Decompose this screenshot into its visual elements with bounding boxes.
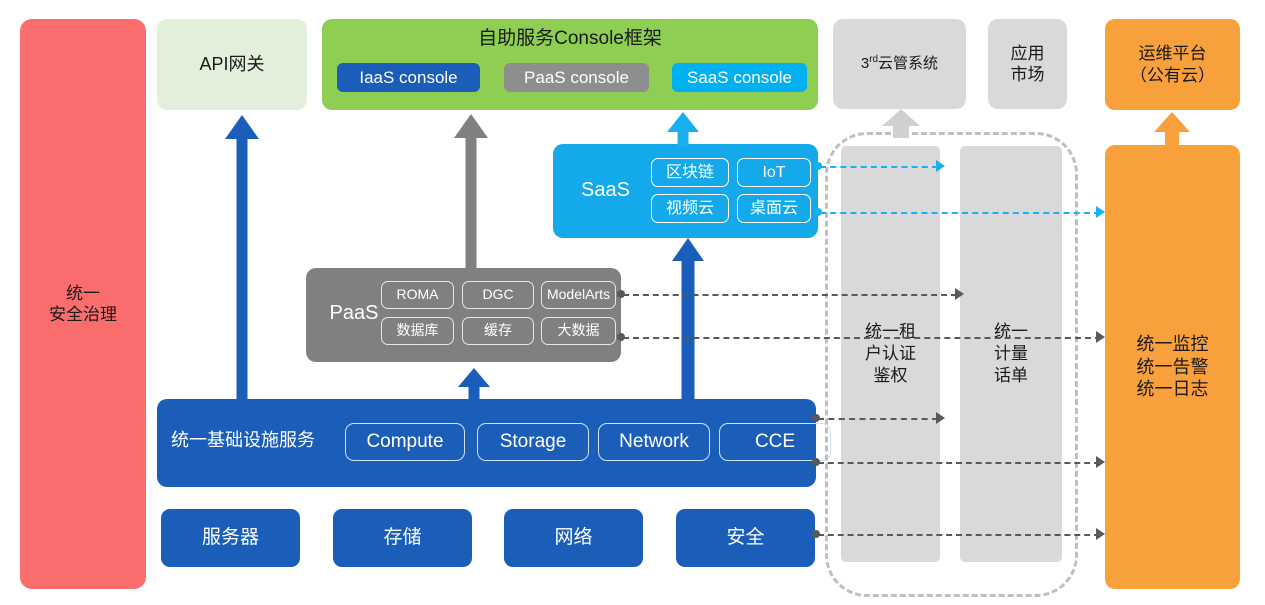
infrastructure-label: 统一基础设施服务 <box>171 429 315 452</box>
arrow-ops-main-to-ops-platform <box>1154 112 1190 146</box>
unified-security-governance-panel: 统一 安全治理 <box>20 19 146 589</box>
ops-platform-public-cloud-box: 运维平台 （公有云） <box>1105 19 1240 110</box>
connector-paas-to-ops <box>623 337 1101 339</box>
shared-column-tenant-auth: 统一租 户认证 鉴权 <box>841 146 940 562</box>
saas-chip-iot[interactable]: IoT <box>737 158 811 187</box>
connector-paas-to-metering <box>623 294 957 296</box>
app-market-box: 应用 市场 <box>988 19 1067 109</box>
resource-box-security: 安全 <box>676 509 815 567</box>
third-party-label: 3rd云管系统 <box>861 54 938 74</box>
saas-layer-label: SaaS <box>563 178 648 203</box>
paas-chip-database[interactable]: 数据库 <box>381 317 454 345</box>
connector-arrowhead-infra-auth <box>936 412 945 424</box>
arrow-shared-to-third-party <box>882 109 920 137</box>
resource-box-storage: 存储 <box>333 509 472 567</box>
saas-layer-box: SaaS 区块链 IoT 视频云 桌面云 <box>553 144 818 238</box>
infra-chip-network[interactable]: Network <box>598 423 710 461</box>
connector-arrowhead-security-ops <box>1096 528 1105 540</box>
architecture-diagram: 统一 安全治理 API网关 自助服务Console框架 IaaS console… <box>0 0 1265 605</box>
saas-chip-blockchain[interactable]: 区块链 <box>651 158 729 187</box>
paas-console-chip[interactable]: PaaS console <box>504 63 649 92</box>
paas-chip-cache[interactable]: 缓存 <box>462 317 534 345</box>
arrow-infra-to-saas <box>672 238 704 400</box>
unified-monitoring-alarm-log-box: 统一监控 统一告警 统一日志 <box>1105 145 1240 589</box>
paas-chip-dgc[interactable]: DGC <box>462 281 534 309</box>
ordinal-superscript: rd <box>869 54 878 65</box>
console-frame-title: 自助服务Console框架 <box>322 27 818 51</box>
connector-arrowhead-infra-ops <box>1096 456 1105 468</box>
saas-chip-video-cloud[interactable]: 视频云 <box>651 194 729 223</box>
connector-arrowhead-paas-ops <box>1096 331 1105 343</box>
arrow-saas-to-console <box>667 112 699 146</box>
connector-arrowhead-saas-auth <box>936 160 945 172</box>
connector-infra-to-auth <box>818 418 938 420</box>
saas-console-chip[interactable]: SaaS console <box>672 63 807 92</box>
connector-saas-to-ops <box>820 212 1100 214</box>
infra-chip-cce[interactable]: CCE <box>719 423 831 461</box>
arrow-infra-to-paas <box>458 368 490 401</box>
self-service-console-frame: 自助服务Console框架 IaaS console PaaS console … <box>322 19 818 110</box>
shared-column-metering-billing: 统一 计量 话单 <box>960 146 1062 562</box>
connector-arrowhead-saas-ops <box>1096 206 1105 218</box>
arrow-infra-to-api-gateway <box>225 115 259 399</box>
connector-arrowhead-paas-metering <box>955 288 964 300</box>
saas-chip-desktop-cloud[interactable]: 桌面云 <box>737 194 811 223</box>
api-gateway-box: API网关 <box>157 19 307 110</box>
paas-layer-box: PaaS ROMA DGC ModelArts 数据库 缓存 大数据 <box>306 268 621 362</box>
iaas-console-chip[interactable]: IaaS console <box>337 63 480 92</box>
third-party-cloud-mgmt-box: 3rd云管系统 <box>833 19 966 109</box>
connector-saas-to-auth <box>820 166 938 168</box>
arrow-paas-to-console <box>454 114 488 270</box>
paas-chip-roma[interactable]: ROMA <box>381 281 454 309</box>
resource-box-network: 网络 <box>504 509 643 567</box>
resource-box-server: 服务器 <box>161 509 300 567</box>
infra-chip-compute[interactable]: Compute <box>345 423 465 461</box>
infra-chip-storage[interactable]: Storage <box>477 423 589 461</box>
paas-chip-bigdata[interactable]: 大数据 <box>541 317 616 345</box>
connector-security-to-ops <box>818 534 1100 536</box>
paas-chip-modelarts[interactable]: ModelArts <box>541 281 616 309</box>
connector-infra-to-ops <box>818 462 1100 464</box>
unified-infrastructure-service-bar: 统一基础设施服务 Compute Storage Network CCE <box>157 399 816 487</box>
